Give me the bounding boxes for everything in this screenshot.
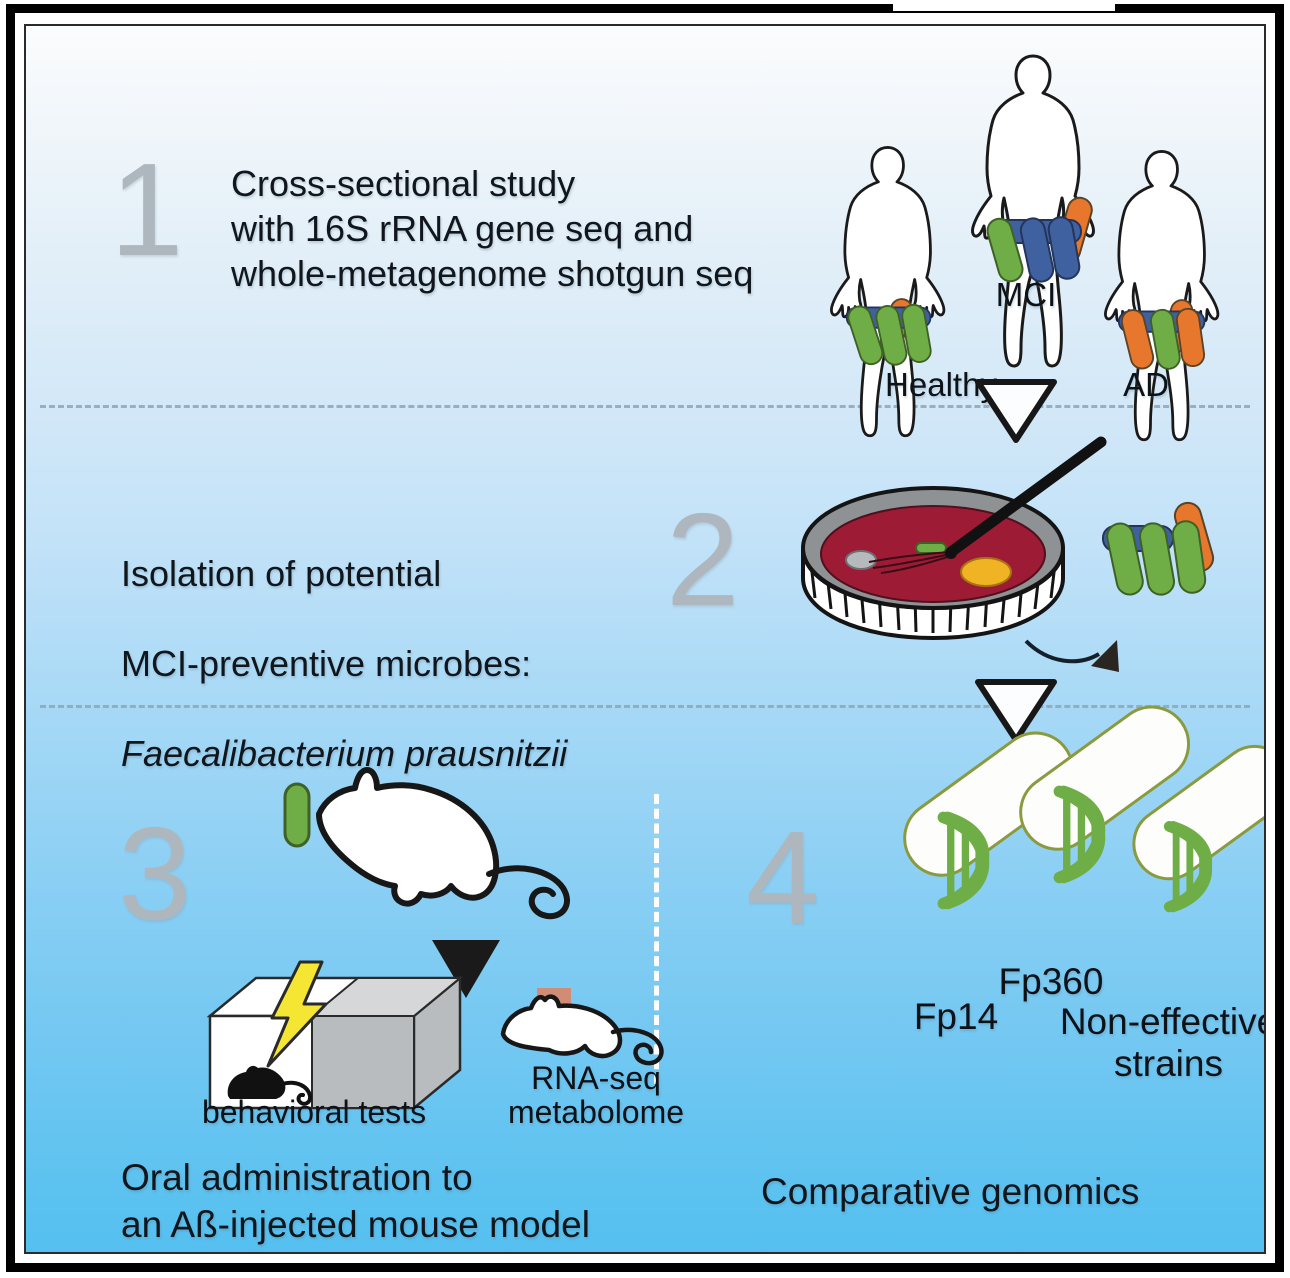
- frame-top-notch: [893, 0, 1115, 11]
- curved-arrow-icon: [1026, 640, 1119, 672]
- human-figure-mci: [973, 56, 1095, 366]
- graphical-abstract-figure: 1 Cross-sectional study with 16S rRNA ge…: [0, 0, 1290, 1278]
- cohort-illustration-group: [816, 48, 1256, 418]
- step2-line2: MCI-preventive microbes:: [121, 643, 531, 684]
- mouse-illustration: [281, 766, 611, 936]
- mouse-tail: [489, 868, 567, 916]
- step-number-2: 2: [666, 494, 737, 626]
- strain-label-non-effective: Non-effective strains: [1041, 1001, 1266, 1085]
- colony-green: [916, 543, 946, 553]
- rods-healthy: [846, 296, 933, 367]
- figure-canvas: 1 Cross-sectional study with 16S rRNA ge…: [24, 24, 1266, 1254]
- isolated-rods-cluster: [1103, 500, 1216, 597]
- step2-line1: Isolation of potential: [121, 553, 441, 594]
- step-number-4: 4: [746, 812, 817, 944]
- step-number-1: 1: [110, 144, 181, 276]
- rnaseq-metabolome-label: RNA-seq metabolome: [496, 1061, 696, 1129]
- step1-description: Cross-sectional study with 16S rRNA gene…: [231, 161, 753, 296]
- green-rod-dose: [285, 784, 309, 846]
- petri-dish-illustration: [781, 426, 1251, 696]
- petri-dish-icon: [803, 488, 1063, 638]
- strain-label-fp360: Fp360: [971, 961, 1131, 1003]
- step3-caption: Oral administration to an Aß-injected mo…: [121, 1154, 590, 1248]
- step2-description: Isolation of potential MCI-preventive mi…: [121, 506, 567, 776]
- cohort-label-mci: MCI: [966, 276, 1086, 314]
- cohort-label-ad: AD: [1091, 366, 1201, 404]
- step-number-3: 3: [118, 808, 189, 940]
- step4-caption: Comparative genomics: [761, 1169, 1139, 1214]
- colony-gray: [846, 551, 876, 569]
- colony-yellow: [961, 558, 1011, 586]
- behavioral-tests-label: behavioral tests: [144, 1094, 484, 1131]
